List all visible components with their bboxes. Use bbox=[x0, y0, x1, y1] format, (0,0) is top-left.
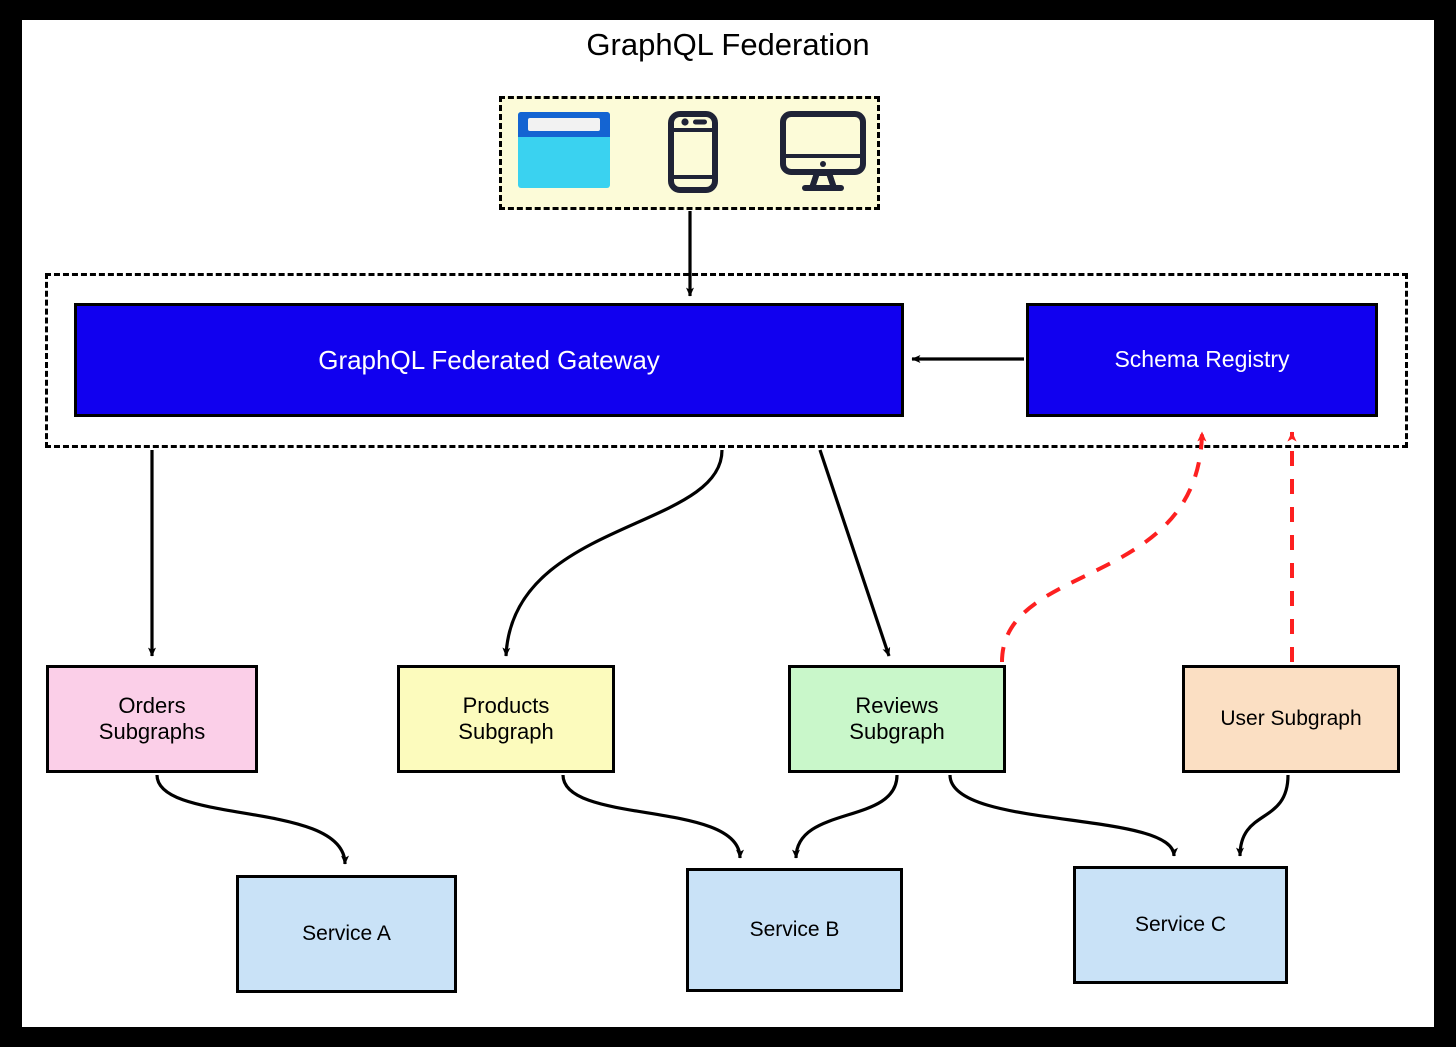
page-title: GraphQL Federation bbox=[0, 27, 1456, 63]
graphql-federated-gateway-node[interactable]: GraphQL Federated Gateway bbox=[74, 303, 904, 417]
orders-subgraph-node[interactable]: Orders Subgraphs bbox=[46, 665, 258, 773]
diagram-page: GraphQL Federation GraphQL Federated Gat… bbox=[0, 0, 1456, 1047]
service-c-node[interactable]: Service C bbox=[1073, 866, 1288, 984]
service-a-node[interactable]: Service A bbox=[236, 875, 457, 993]
desktop-monitor-icon bbox=[779, 111, 867, 191]
schema-registry-node[interactable]: Schema Registry bbox=[1026, 303, 1378, 417]
products-subgraph-node[interactable]: Products Subgraph bbox=[397, 665, 615, 773]
reviews-subgraph-node[interactable]: Reviews Subgraph bbox=[788, 665, 1006, 773]
mobile-phone-icon bbox=[668, 111, 718, 193]
user-subgraph-node[interactable]: User Subgraph bbox=[1182, 665, 1400, 773]
service-b-node[interactable]: Service B bbox=[686, 868, 903, 992]
browser-window-icon bbox=[517, 111, 611, 189]
